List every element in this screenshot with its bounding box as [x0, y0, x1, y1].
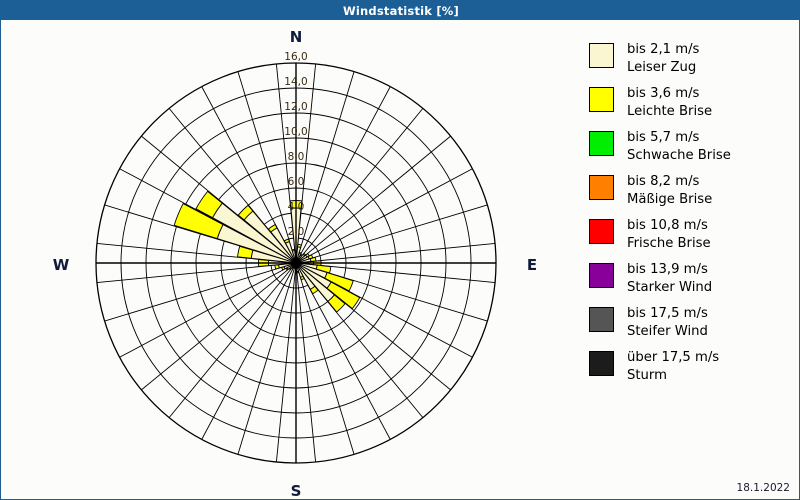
petal-segment: [297, 271, 299, 273]
grid-spoke: [238, 263, 296, 454]
legend-item-sturm[interactable]: über 17,5 m/sSturm: [589, 349, 794, 384]
legend-swatch-schwache-brise: [589, 131, 614, 156]
grid-spoke: [169, 263, 296, 418]
radial-tick-14: 14,0: [284, 76, 307, 88]
legend-name: Mäßige Brise: [627, 191, 712, 209]
legend-swatch-frische-brise: [589, 219, 614, 244]
legend: bis 2,1 m/sLeiser Zugbis 3,6 m/sLeichte …: [589, 41, 794, 393]
windstatistik-window: Windstatistik [%] 2,04,06,08,010,012,014…: [0, 0, 800, 500]
radial-tick-4: 4,0: [288, 201, 305, 213]
legend-swatch-leiser-zug: [589, 43, 614, 68]
polar-center-marker: [293, 260, 299, 266]
window-titlebar: Windstatistik [%]: [1, 1, 800, 20]
radial-tick-2: 2,0: [288, 226, 305, 238]
legend-name: Frische Brise: [627, 235, 711, 253]
legend-label-leiser-zug: bis 2,1 m/sLeiser Zug: [627, 41, 699, 76]
compass-label-south: S: [291, 482, 302, 500]
legend-swatch-leichte-brise: [589, 87, 614, 112]
legend-range: bis 2,1 m/s: [627, 41, 699, 59]
legend-range: bis 3,6 m/s: [627, 85, 712, 103]
legend-label-frische-brise: bis 10,8 m/sFrische Brise: [627, 217, 711, 252]
legend-item-schwache-brise[interactable]: bis 5,7 m/sSchwache Brise: [589, 129, 794, 164]
legend-label-schwache-brise: bis 5,7 m/sSchwache Brise: [627, 129, 731, 164]
legend-name: Starker Wind: [627, 279, 712, 297]
grid-spoke: [296, 169, 472, 263]
wind-rose-chart: 2,04,06,08,010,012,014,016,0 N S W E: [1, 20, 566, 500]
grid-spoke: [105, 263, 296, 321]
legend-item-starker-wind[interactable]: bis 13,9 m/sStarker Wind: [589, 261, 794, 296]
petal-segment: [298, 244, 302, 247]
legend-swatch-starker-wind: [589, 263, 614, 288]
petal-segment: [300, 276, 304, 279]
legend-item-leichte-brise[interactable]: bis 3,6 m/sLeichte Brise: [589, 85, 794, 120]
radial-tick-8: 8,0: [288, 151, 305, 163]
polar-axis-lines: [96, 63, 496, 463]
date-stamp: 18.1.2022: [737, 482, 790, 494]
grid-spoke: [120, 263, 296, 357]
legend-range: über 17,5 m/s: [627, 349, 719, 367]
radial-tick-16: 16,0: [284, 51, 307, 63]
legend-label-maessige-brise: bis 8,2 m/sMäßige Brise: [627, 173, 712, 208]
legend-swatch-maessige-brise: [589, 175, 614, 200]
grid-spoke: [296, 108, 423, 263]
legend-item-maessige-brise[interactable]: bis 8,2 m/sMäßige Brise: [589, 173, 794, 208]
grid-spoke: [202, 263, 296, 439]
radial-tick-6: 6,0: [288, 176, 305, 188]
grid-spoke: [296, 136, 451, 263]
legend-item-frische-brise[interactable]: bis 10,8 m/sFrische Brise: [589, 217, 794, 252]
legend-name: Steifer Wind: [627, 323, 708, 341]
legend-label-sturm: über 17,5 m/sSturm: [627, 349, 719, 384]
legend-range: bis 13,9 m/s: [627, 261, 712, 279]
legend-swatch-steifer-wind: [589, 307, 614, 332]
legend-name: Leiser Zug: [627, 59, 699, 77]
compass-label-west: W: [53, 256, 70, 274]
legend-name: Leichte Brise: [627, 103, 712, 121]
grid-spoke: [296, 87, 390, 263]
radial-tick-12: 12,0: [284, 101, 307, 113]
legend-name: Schwache Brise: [627, 147, 731, 165]
legend-item-steifer-wind[interactable]: bis 17,5 m/sSteifer Wind: [589, 305, 794, 340]
petal-segment: [292, 249, 295, 251]
legend-label-leichte-brise: bis 3,6 m/sLeichte Brise: [627, 85, 712, 120]
compass-label-east: E: [527, 256, 537, 274]
grid-spoke: [141, 263, 296, 390]
legend-item-leiser-zug[interactable]: bis 2,1 m/sLeiser Zug: [589, 41, 794, 76]
legend-label-starker-wind: bis 13,9 m/sStarker Wind: [627, 261, 712, 296]
window-title: Windstatistik [%]: [343, 4, 459, 18]
legend-label-steifer-wind: bis 17,5 m/sSteifer Wind: [627, 305, 708, 340]
legend-range: bis 17,5 m/s: [627, 305, 708, 323]
legend-range: bis 10,8 m/s: [627, 217, 711, 235]
radial-tick-10: 10,0: [284, 126, 307, 138]
legend-swatch-sturm: [589, 351, 614, 376]
legend-name: Sturm: [627, 367, 719, 385]
compass-label-north: N: [290, 28, 303, 46]
legend-range: bis 5,7 m/s: [627, 129, 731, 147]
petal-segment: [275, 265, 279, 269]
grid-spoke: [296, 205, 487, 263]
legend-range: bis 8,2 m/s: [627, 173, 712, 191]
